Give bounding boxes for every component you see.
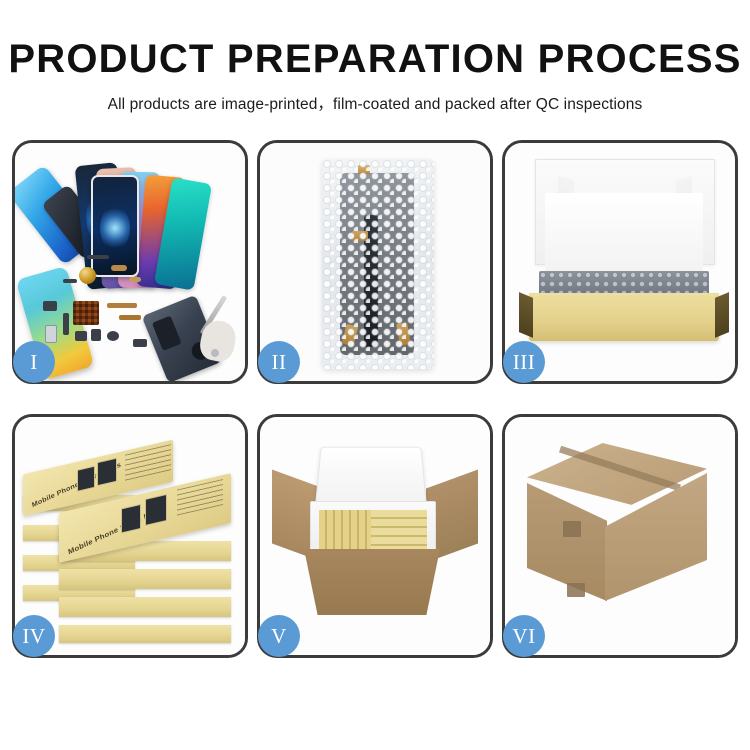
process-step-panel-4: Mobile Phone Spare Parts Mobile Phone Sp… xyxy=(12,414,248,658)
process-step-panel-1: I xyxy=(12,140,248,384)
connector-grid-icon xyxy=(73,301,99,325)
step-badge-2: II xyxy=(258,341,300,383)
screw-icon xyxy=(211,349,219,357)
carton-tape-lower xyxy=(567,583,585,597)
box-spec-lines-back xyxy=(125,444,171,481)
stack-box-f4 xyxy=(59,625,231,643)
sealed-carton-icon xyxy=(523,443,719,623)
part-bit-5-icon xyxy=(63,313,69,335)
box-spec-lines-front xyxy=(177,479,223,516)
part-bit-8-icon xyxy=(107,331,119,341)
carton-tape-upper xyxy=(563,521,581,537)
box-window-front-2 xyxy=(145,494,167,526)
process-step-panel-3: III xyxy=(502,140,738,384)
process-step-panel-6: VI xyxy=(502,414,738,658)
bubble-bag-scene xyxy=(260,143,490,381)
bubble-bag-icon xyxy=(322,159,434,369)
box-window-back-2 xyxy=(97,458,117,487)
inner-boxes-icon xyxy=(319,510,427,552)
stack-box-f2 xyxy=(59,569,231,589)
carton-body-icon xyxy=(304,549,440,615)
process-step-grid: I II xyxy=(12,140,738,658)
stack-box-f3 xyxy=(59,597,231,617)
step-2-image xyxy=(260,143,490,381)
step-5-image xyxy=(260,417,490,655)
box-stack: Mobile Phone Spare Parts Mobile Phone Sp… xyxy=(21,435,245,643)
part-bit-10-icon xyxy=(119,315,141,320)
step-badge-5: V xyxy=(258,615,300,657)
part-bit-11-icon xyxy=(45,325,57,343)
sealed-carton-scene xyxy=(505,417,735,655)
part-bit-6-icon xyxy=(75,331,87,341)
step-4-image: Mobile Phone Spare Parts Mobile Phone Sp… xyxy=(15,417,245,655)
foam-sheet-icon xyxy=(545,193,703,271)
part-bit-12-icon xyxy=(43,301,57,311)
page-header: PRODUCT PREPARATION PROCESS All products… xyxy=(0,0,750,114)
page-title: PRODUCT PREPARATION PROCESS xyxy=(0,38,750,80)
page-subtitle: All products are image-printed，film-coat… xyxy=(0,92,750,114)
box-window-back-1 xyxy=(77,466,95,492)
step-badge-1: I xyxy=(13,341,55,383)
part-bit-7-icon xyxy=(91,329,101,341)
step-badge-3: III xyxy=(503,341,545,383)
phone-parts-montage xyxy=(15,143,245,381)
step-badge-4: IV xyxy=(13,615,55,657)
process-step-panel-2: II xyxy=(257,140,493,384)
step-3-image xyxy=(505,143,735,381)
step-6-image xyxy=(505,417,735,655)
kraft-box-base-icon xyxy=(529,293,719,341)
process-step-panel-5: V xyxy=(257,414,493,658)
part-bit-1-icon xyxy=(87,255,109,259)
part-bit-4-icon xyxy=(129,277,141,282)
open-inner-box-scene xyxy=(505,143,735,381)
part-bit-2-icon xyxy=(63,279,77,283)
step-badge-6: VI xyxy=(503,615,545,657)
speaker-module-icon xyxy=(79,267,96,284)
foam-carton-scene xyxy=(260,417,490,655)
part-bit-9-icon xyxy=(107,303,137,308)
step-1-image xyxy=(15,143,245,381)
box-window-front-1 xyxy=(121,504,141,534)
part-bit-13-icon xyxy=(133,339,147,347)
part-bit-3-icon xyxy=(111,265,127,271)
stacked-boxes-scene: Mobile Phone Spare Parts Mobile Phone Sp… xyxy=(15,417,245,655)
foam-lid-icon xyxy=(315,447,427,507)
bubble-texture xyxy=(322,159,434,369)
tempered-glass-screen-icon xyxy=(91,175,139,277)
